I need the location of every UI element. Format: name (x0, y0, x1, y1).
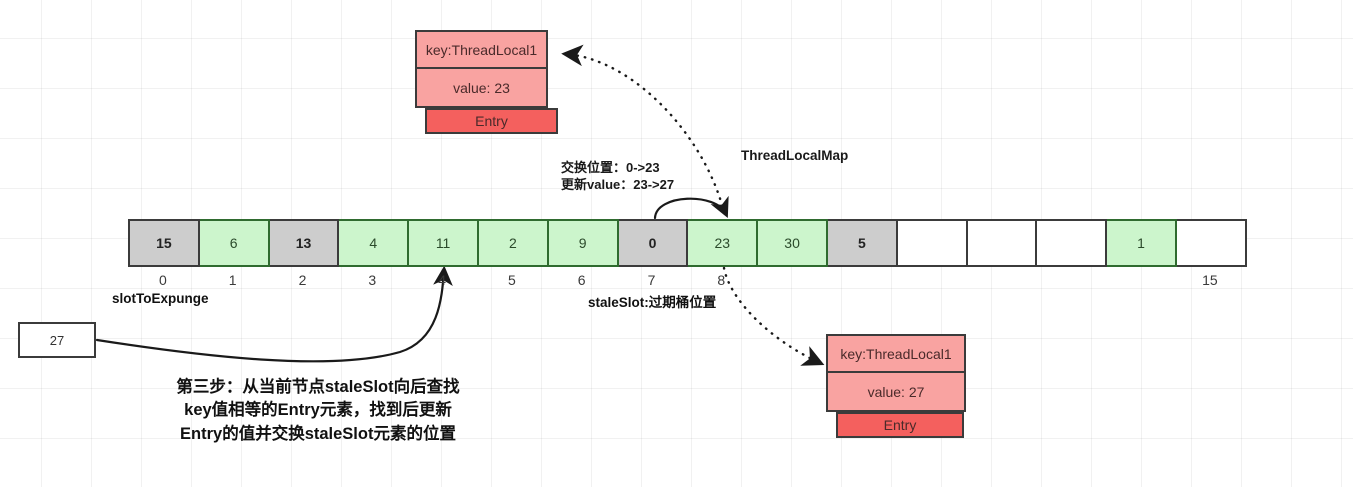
arrow-slot8-to-top-entry (566, 54, 727, 228)
array-cell-2: 13 (270, 219, 340, 267)
array-cell-9: 30 (758, 219, 828, 267)
swap-note: 交换位置：0->23更新value：23->27 (561, 160, 681, 193)
array-cell-11 (898, 219, 968, 267)
caption-line-2: Entry的值并交换staleSlot元素的位置 (118, 423, 518, 446)
array-cell-4: 11 (409, 219, 479, 267)
array-index-label-4: 4 (407, 272, 477, 288)
array-index-label-3: 3 (337, 272, 407, 288)
entry-bottom-value: value: 27 (826, 373, 966, 412)
arrow-swap-slot7-slot8 (655, 199, 726, 218)
entry-bottom-key: key:ThreadLocal1 (826, 334, 966, 373)
entry-top-key: key:ThreadLocal1 (415, 30, 548, 69)
array-index-label-6: 6 (547, 272, 617, 288)
array-cell-10: 5 (828, 219, 898, 267)
array-cell-7: 0 (619, 219, 689, 267)
caption-line-0: 第三步：从当前节点staleSlot向后查找 (118, 376, 518, 399)
array-index-label-5: 5 (477, 272, 547, 288)
array-index-label-7: 7 (617, 272, 687, 288)
array-cell-0: 15 (130, 219, 200, 267)
entry-bottom-footer: Entry (836, 412, 964, 438)
array-cell-15 (1177, 219, 1247, 267)
threadlocalmap-label: ThreadLocalMap (741, 148, 848, 163)
entry-box-top: key:ThreadLocal1 value: 23 Entry (415, 30, 548, 134)
array-index-label-8: 8 (686, 272, 756, 288)
entry-top-value: value: 23 (415, 69, 548, 108)
array-cell-13 (1037, 219, 1107, 267)
array-index-label-1: 1 (198, 272, 268, 288)
entry-top-footer: Entry (425, 108, 558, 134)
swap-note-line-1: 更新value：23->27 (561, 177, 681, 194)
threadlocalmap-array: 15613411290233051 (128, 219, 1247, 267)
array-index-label-2: 2 (268, 272, 338, 288)
array-cell-1: 6 (200, 219, 270, 267)
array-index-label-15: 15 (1175, 272, 1245, 288)
array-index-label-0: 0 (128, 272, 198, 288)
swap-note-line-0: 交换位置：0->23 (561, 160, 681, 177)
entry-box-bottom: key:ThreadLocal1 value: 27 Entry (826, 334, 966, 438)
stale-slot-label: staleSlot:过期桶位置 (588, 291, 716, 311)
slot-to-expunge-label: slotToExpunge (112, 291, 209, 306)
array-cell-12 (968, 219, 1038, 267)
pending-value-box: 27 (18, 322, 96, 358)
array-cell-8: 23 (688, 219, 758, 267)
caption-line-1: key值相等的Entry元素，找到后更新 (118, 399, 518, 422)
array-cell-3: 4 (339, 219, 409, 267)
array-cell-6: 9 (549, 219, 619, 267)
array-cell-14: 1 (1107, 219, 1177, 267)
step-caption: 第三步：从当前节点staleSlot向后查找key值相等的Entry元素，找到后… (118, 376, 518, 446)
array-cell-5: 2 (479, 219, 549, 267)
diagram-canvas: key:ThreadLocal1 value: 23 Entry key:Thr… (0, 0, 1353, 487)
